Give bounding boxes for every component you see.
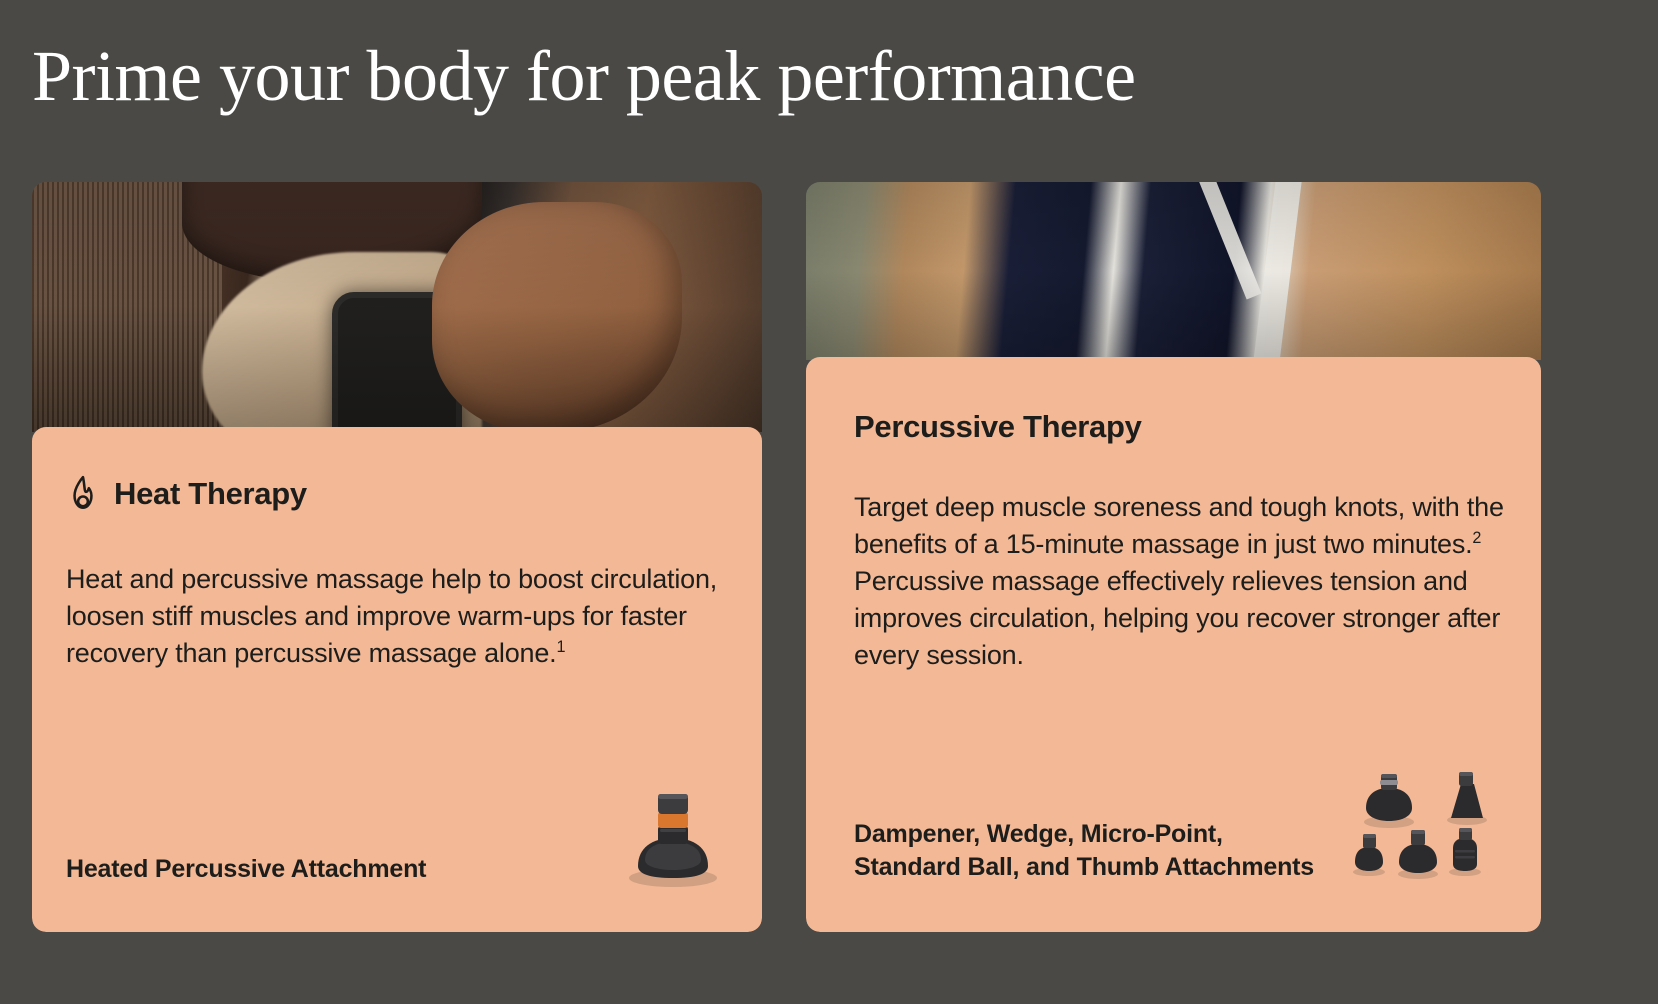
footnote-marker-1: 1 <box>556 638 565 656</box>
page-title: Prime your body for peak performance <box>32 40 1432 112</box>
card-photo-heat-therapy <box>32 182 762 432</box>
heated-percussive-attachment-image <box>618 782 728 892</box>
card-panel-heat-therapy: Heat Therapy Heat and percussive massage… <box>32 427 762 932</box>
card-percussive-therapy[interactable]: Percussive Therapy Target deep muscle so… <box>806 182 1541 932</box>
card-body-text-before: Target deep muscle soreness and tough kn… <box>854 492 1504 559</box>
footnote-marker-2: 2 <box>1472 529 1481 547</box>
card-panel-percussive-therapy: Percussive Therapy Target deep muscle so… <box>806 357 1541 932</box>
photo-vignette <box>806 182 1541 360</box>
card-title-percussive-therapy: Percussive Therapy <box>854 409 1142 445</box>
photo-vignette <box>32 182 762 432</box>
card-footer-heat-therapy: Heated Percussive Attachment <box>66 782 728 892</box>
card-body-heat-therapy: Heat and percussive massage help to boos… <box>66 561 726 672</box>
card-body-text-after: Percussive massage effectively relieves … <box>854 566 1500 670</box>
card-body-percussive-therapy: Target deep muscle soreness and tough kn… <box>854 489 1507 674</box>
card-heading-row: Percussive Therapy <box>854 357 1507 445</box>
card-heat-therapy[interactable]: Heat Therapy Heat and percussive massage… <box>32 182 762 932</box>
card-body-text: Heat and percussive massage help to boos… <box>66 564 717 668</box>
five-attachments-cluster-image <box>1347 764 1507 884</box>
card-heading-row: Heat Therapy <box>66 427 728 513</box>
attachment-label-percussive-therapy: Dampener, Wedge, Micro-Point, Standard B… <box>854 818 1327 885</box>
card-photo-percussive-therapy <box>806 182 1541 360</box>
marketing-page: Prime your body for peak performance Hea… <box>0 0 1658 1004</box>
attachment-label-heat-therapy: Heated Percussive Attachment <box>66 853 426 892</box>
flame-icon <box>66 475 100 513</box>
card-footer-percussive-therapy: Dampener, Wedge, Micro-Point, Standard B… <box>854 764 1507 884</box>
card-title-heat-therapy: Heat Therapy <box>114 476 307 512</box>
